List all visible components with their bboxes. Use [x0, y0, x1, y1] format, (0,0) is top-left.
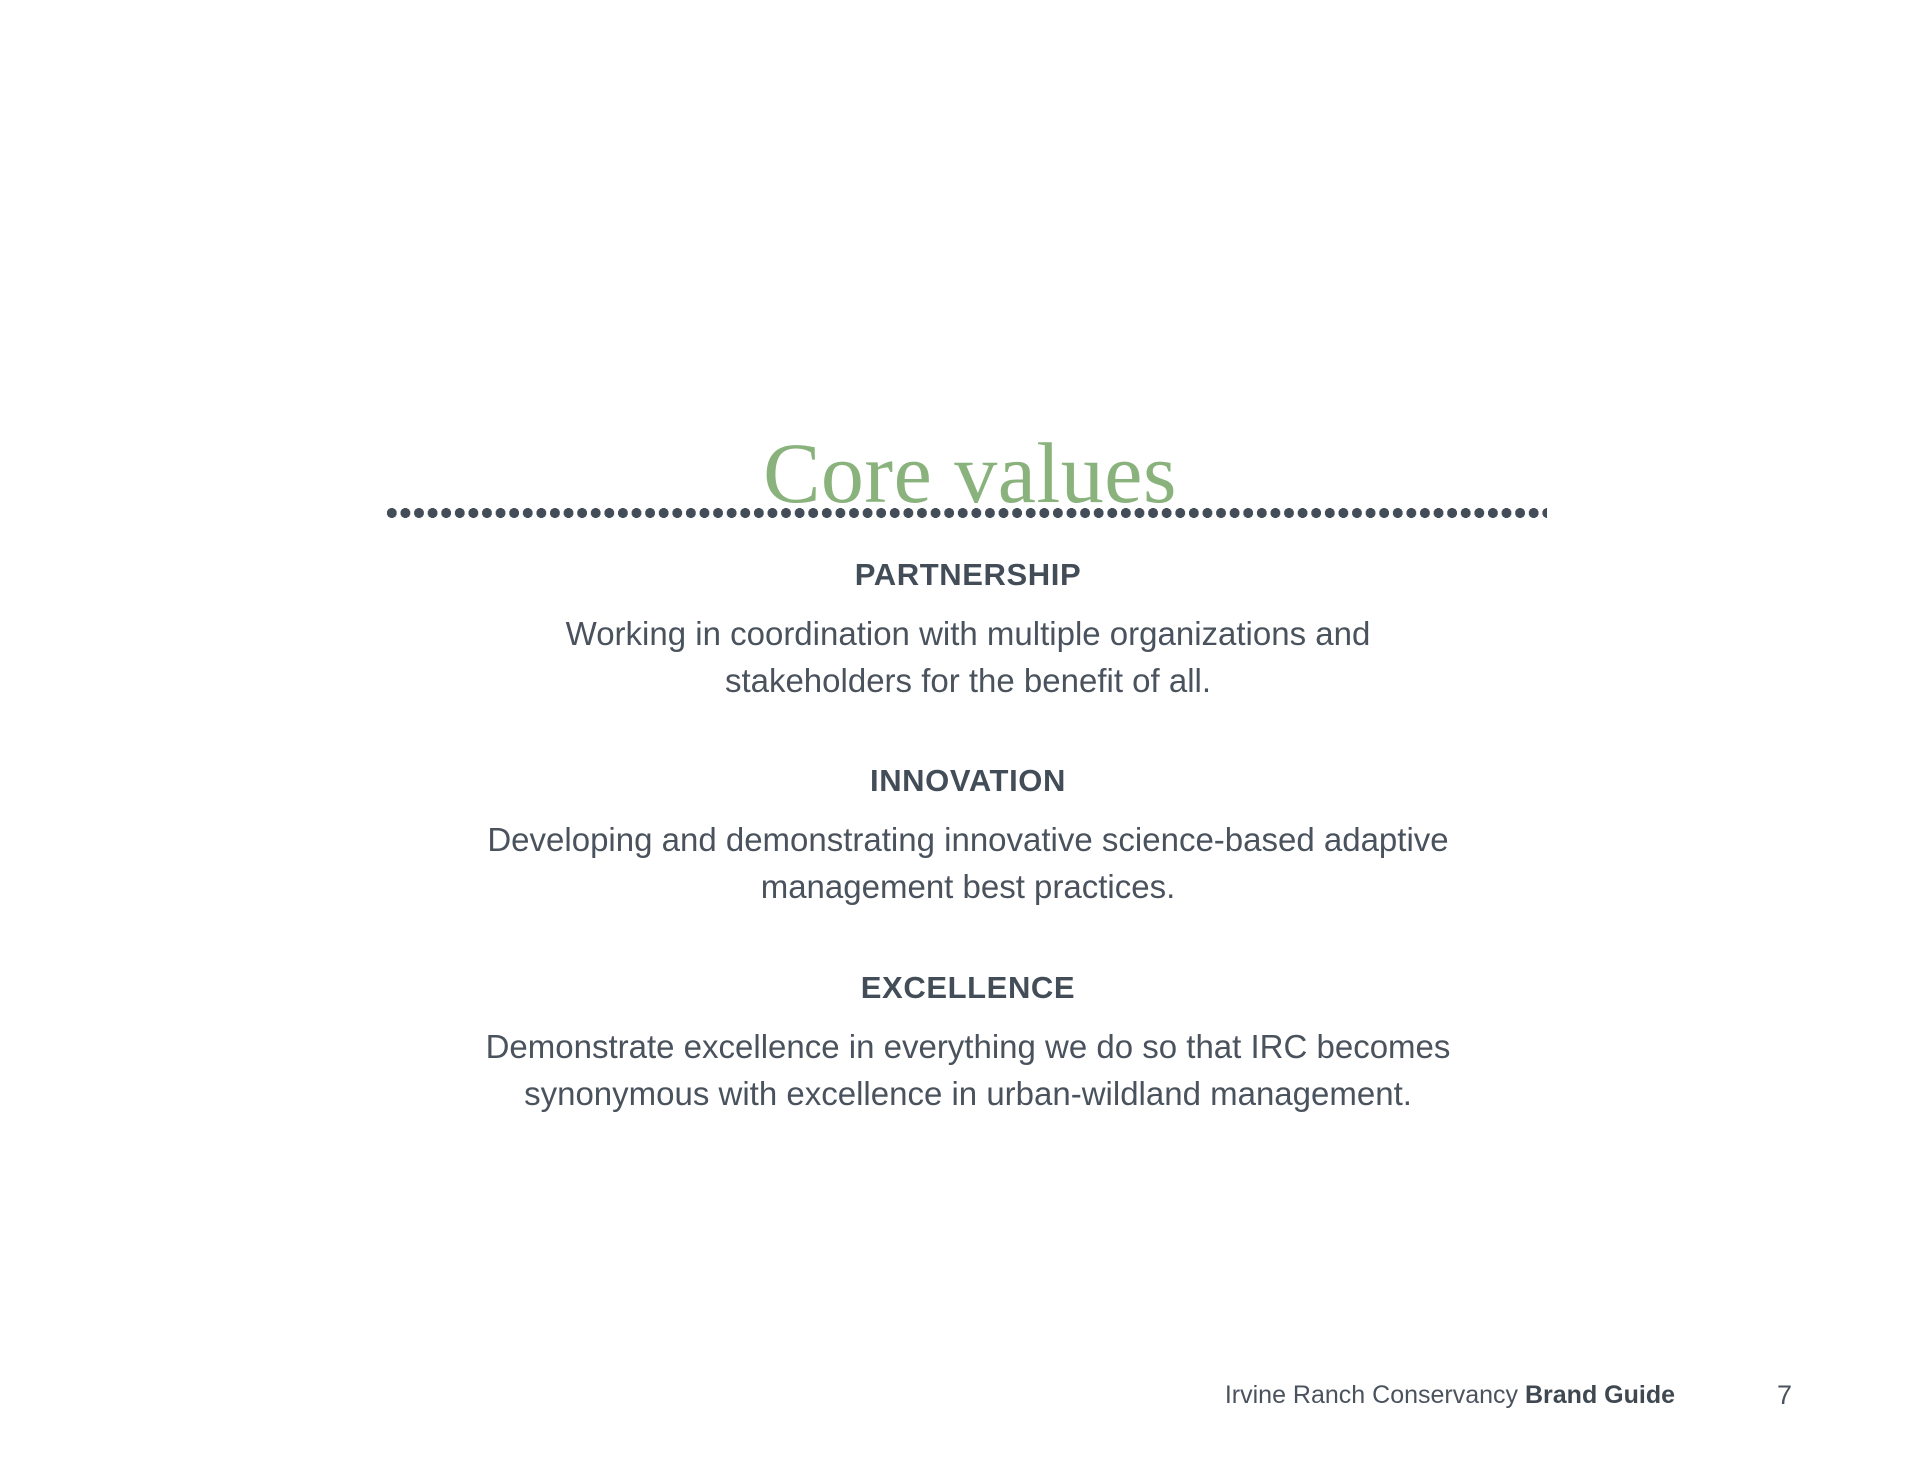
value-block-innovation: INNOVATION Developing and demonstrating …: [16, 762, 1920, 910]
value-body-partnership: Working in coordination with multiple or…: [378, 611, 1558, 705]
value-body-excellence: Demonstrate excellence in everything we …: [378, 1024, 1558, 1118]
page-title: Core values: [0, 430, 1920, 516]
value-block-excellence: EXCELLENCE Demonstrate excellence in eve…: [16, 969, 1920, 1117]
value-body-line: Working in coordination with multiple or…: [378, 611, 1558, 658]
value-heading-innovation: INNOVATION: [16, 762, 1920, 801]
footer-organization-name: Irvine Ranch Conservancy: [1225, 1381, 1525, 1409]
footer-credit: Irvine Ranch Conservancy Brand Guide: [1225, 1378, 1675, 1412]
footer-brand-guide-label: Brand Guide: [1525, 1381, 1675, 1409]
dotted-divider: [385, 508, 1547, 518]
value-block-partnership: PARTNERSHIP Working in coordination with…: [16, 556, 1920, 704]
value-body-line: stakeholders for the benefit of all.: [378, 658, 1558, 705]
value-body-line: Demonstrate excellence in everything we …: [378, 1024, 1558, 1071]
core-values-list: PARTNERSHIP Working in coordination with…: [0, 556, 1920, 1117]
page-number: 7: [1777, 1378, 1792, 1412]
value-body-line: Developing and demonstrating innovative …: [378, 817, 1558, 864]
document-page: Core values PARTNERSHIP Working in coord…: [0, 0, 1920, 1484]
value-heading-excellence: EXCELLENCE: [16, 969, 1920, 1008]
value-body-line: synonymous with excellence in urban-wild…: [378, 1071, 1558, 1118]
value-heading-partnership: PARTNERSHIP: [16, 556, 1920, 595]
page-footer: Irvine Ranch Conservancy Brand Guide 7: [0, 1378, 1920, 1422]
value-body-innovation: Developing and demonstrating innovative …: [378, 817, 1558, 911]
value-body-line: management best practices.: [378, 864, 1558, 911]
dotted-divider-line: [385, 508, 1547, 518]
